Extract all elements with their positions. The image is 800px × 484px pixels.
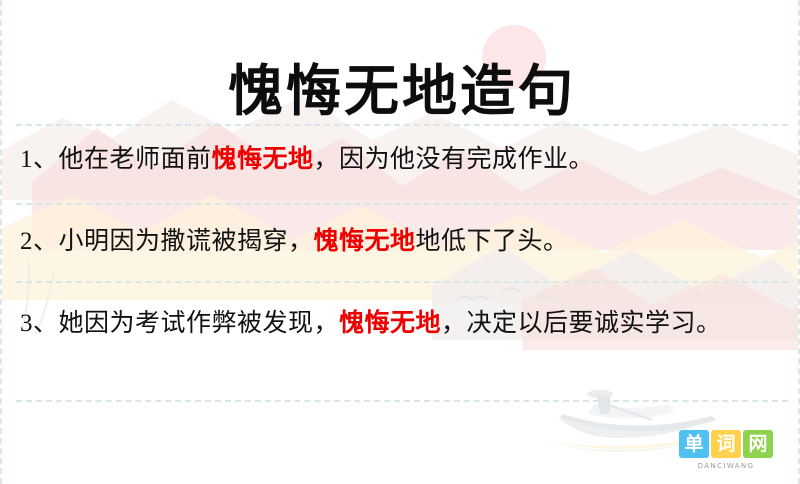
list-item: 3、她因为考试作弊被发现，愧悔无地，决定以后要诚实学习。 (20, 304, 786, 344)
logo-tiles: 单 词 网 (672, 430, 780, 458)
sentence-text-before: 他在老师面前 (59, 146, 212, 173)
sentence-list: 1、他在老师面前愧悔无地，因为他没有完成作业。 2、小明因为撒谎被揭穿，愧悔无地… (20, 140, 786, 368)
logo-subtitle: DANCIWANG (672, 462, 780, 470)
sentence-number: 2、 (20, 228, 59, 255)
site-logo[interactable]: 单 词 网 DANCIWANG (672, 430, 780, 470)
keyword-highlight: 愧悔无地 (314, 226, 416, 255)
sentence-text-after: 地低下了头。 (416, 228, 569, 255)
logo-tile-2: 词 (711, 430, 741, 458)
list-item: 1、他在老师面前愧悔无地，因为他没有完成作业。 (20, 140, 786, 180)
logo-tile-1: 单 (679, 430, 709, 458)
divider-3 (16, 400, 788, 402)
slide-canvas: 愧悔无地造句 1、他在老师面前愧悔无地，因为他没有完成作业。 2、小明因为撒谎被… (0, 0, 800, 484)
keyword-highlight: 愧悔无地 (212, 144, 314, 173)
list-item: 2、小明因为撒谎被揭穿，愧悔无地地低下了头。 (20, 222, 786, 262)
page-title: 愧悔无地造句 (228, 59, 576, 124)
sentence-text-after: ，因为他没有完成作业。 (314, 146, 595, 173)
sentence-text-before: 她因为考试作弊被发现， (59, 310, 340, 337)
sentence-number: 3、 (20, 310, 59, 337)
sentence-text-before: 小明因为撒谎被揭穿， (59, 228, 314, 255)
logo-tile-3: 网 (743, 430, 773, 458)
sentence-number: 1、 (20, 146, 59, 173)
keyword-highlight: 愧悔无地 (339, 308, 441, 337)
sentence-text-after: ，决定以后要诚实学习。 (441, 310, 722, 337)
